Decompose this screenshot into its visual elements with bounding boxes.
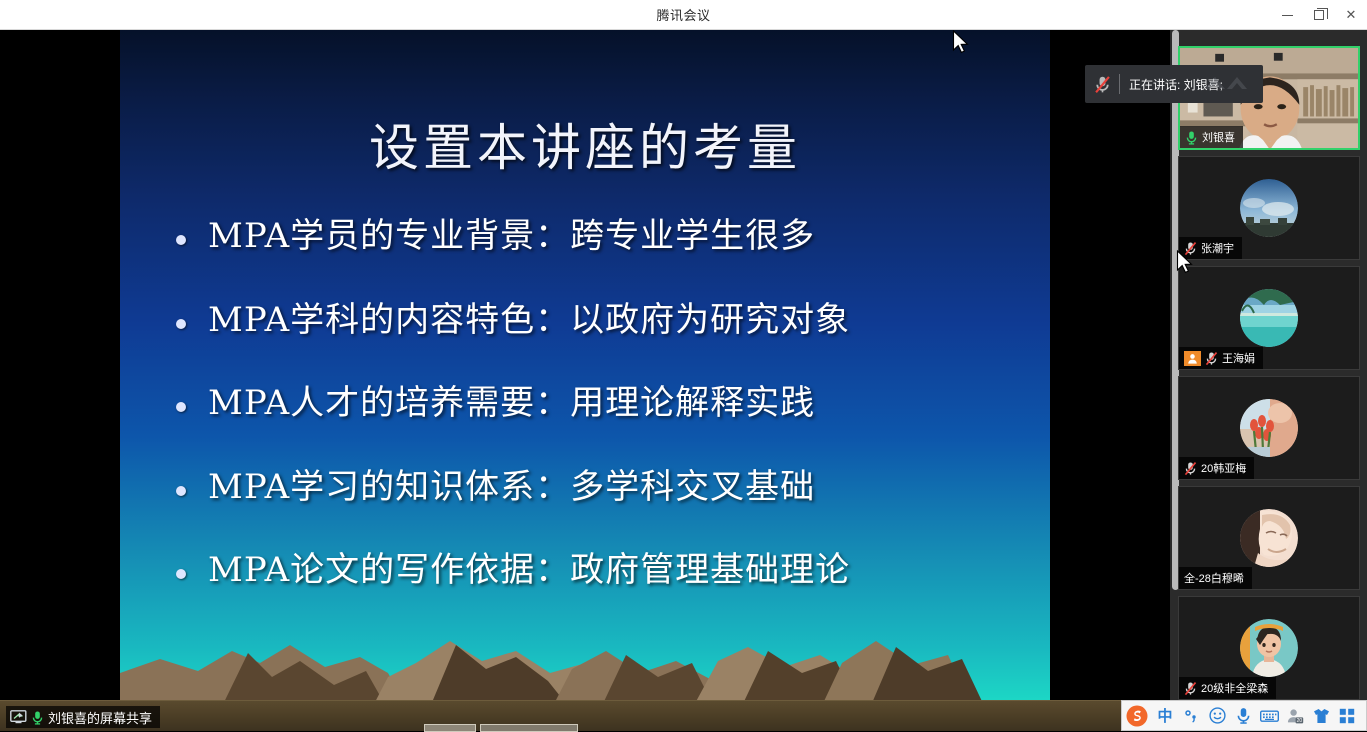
- avatar-image: [1240, 619, 1298, 677]
- slide-bullet-list: MPA学员的专业背景：跨专业学生很多 MPA学科的内容特色：以政府为研究对象 M…: [176, 215, 1030, 633]
- list-item: MPA人才的培养需要：用理论解释实践: [176, 382, 1030, 425]
- participant-name: 张潮宇: [1201, 240, 1234, 256]
- person-icon: [1187, 353, 1198, 364]
- bullet-dot-icon: [176, 319, 186, 329]
- participant-tile-baimuxi[interactable]: 全-28白穆晞: [1178, 486, 1360, 590]
- screen-share-indicator[interactable]: 刘银喜的屏幕共享: [6, 706, 160, 728]
- window-title: 腾讯会议: [656, 5, 710, 24]
- mic-icon: [1236, 707, 1251, 724]
- speaking-notification-toast: 正在讲话: 刘银喜;: [1085, 65, 1263, 103]
- punctuation-icon: [1183, 708, 1199, 724]
- ime-mode-chinese[interactable]: 中: [1152, 701, 1178, 730]
- avatar: [1240, 179, 1298, 237]
- chevrons-decoration-icon: [1203, 73, 1257, 95]
- avatar: [1240, 509, 1298, 567]
- close-button[interactable]: ✕: [1335, 0, 1367, 30]
- toast-mic-slot: [1085, 75, 1119, 94]
- smiley-icon: [1209, 707, 1226, 724]
- list-item: MPA学习的知识体系：多学科交叉基础: [176, 466, 1030, 509]
- participant-name: 20韩亚梅: [1201, 460, 1246, 476]
- participant-name-chip: 王海娟: [1179, 347, 1263, 369]
- avatar-image: [1240, 179, 1298, 237]
- bullet-text: MPA学科的内容特色：以政府为研究对象: [208, 299, 850, 342]
- svg-text:20: 20: [1296, 718, 1302, 724]
- bullet-dot-icon: [176, 486, 186, 496]
- ime-user-panel[interactable]: 20: [1282, 701, 1308, 730]
- shirt-icon: [1313, 708, 1330, 724]
- screen-share-label: 刘银喜的屏幕共享: [48, 708, 152, 727]
- avatar: [1240, 399, 1298, 457]
- bullet-text: MPA论文的写作依据：政府管理基础理论: [208, 549, 850, 592]
- window-titlebar: 腾讯会议 ✕: [0, 0, 1367, 30]
- ime-punctuation[interactable]: [1178, 701, 1204, 730]
- avatar: [1240, 619, 1298, 677]
- participant-tile-zhangchaoyu[interactable]: 张潮宇: [1178, 156, 1360, 260]
- participant-tile-wanghaijuan[interactable]: 王海娟: [1178, 266, 1360, 370]
- bullet-text: MPA人才的培养需要：用理论解释实践: [208, 382, 815, 425]
- avatar-image: [1240, 399, 1298, 457]
- mic-muted-icon: [1205, 351, 1218, 366]
- ime-skin[interactable]: [1308, 701, 1334, 730]
- mic-muted-icon: [1184, 241, 1197, 256]
- mic-muted-icon: [1094, 75, 1111, 94]
- mic-muted-icon: [1184, 461, 1197, 476]
- mic-on-icon: [31, 710, 44, 725]
- participant-panel: 刘银喜: [1170, 30, 1367, 731]
- presentation-slide: 设置本讲座的考量 MPA学员的专业背景：跨专业学生很多 MPA学科的内容特色：以…: [120, 30, 1050, 731]
- ime-toolbox[interactable]: [1334, 701, 1360, 730]
- screen-share-icon: [10, 710, 27, 724]
- participant-name: 全-28白穆晞: [1184, 570, 1244, 586]
- user-icon: 20: [1287, 708, 1304, 724]
- bullet-dot-icon: [176, 402, 186, 412]
- participant-name-chip: 20韩亚梅: [1179, 457, 1254, 479]
- sogou-logo[interactable]: [1122, 701, 1152, 730]
- list-item: MPA论文的写作依据：政府管理基础理论: [176, 549, 1030, 592]
- keyboard-icon: [1260, 709, 1279, 723]
- mic-on-icon: [1185, 130, 1198, 145]
- participant-name-chip: 20级非全梁森: [1179, 677, 1276, 699]
- ime-soft-keyboard[interactable]: [1256, 701, 1282, 730]
- restore-button[interactable]: [1303, 0, 1335, 30]
- list-item: MPA学员的专业背景：跨专业学生很多: [176, 215, 1030, 258]
- avatar: [1240, 289, 1298, 347]
- ime-emoji[interactable]: [1204, 701, 1230, 730]
- bullet-text: MPA学员的专业背景：跨专业学生很多: [208, 215, 815, 258]
- participant-name: 王海娟: [1222, 350, 1255, 366]
- mic-muted-icon: [1184, 681, 1197, 696]
- participant-tile-hanyamei[interactable]: 20韩亚梅: [1178, 376, 1360, 480]
- window-controls: ✕: [1271, 0, 1367, 30]
- list-item: MPA学科的内容特色：以政府为研究对象: [176, 299, 1030, 342]
- participant-name: 刘银喜: [1202, 129, 1235, 145]
- avatar-badge-icon: [1184, 351, 1201, 366]
- slide-title: 设置本讲座的考量: [120, 108, 1050, 180]
- participant-tile-liangsen[interactable]: 20级非全梁森: [1178, 596, 1360, 700]
- participant-name-chip: 全-28白穆晞: [1179, 567, 1252, 589]
- bullet-dot-icon: [176, 569, 186, 579]
- sogou-ime-tray[interactable]: 中: [1121, 700, 1367, 731]
- ime-voice-input[interactable]: [1230, 701, 1256, 730]
- avatar-image: [1240, 289, 1298, 347]
- participant-name: 20级非全梁森: [1201, 680, 1268, 696]
- participant-name-chip: 刘银喜: [1180, 126, 1243, 148]
- grid-icon: [1339, 708, 1355, 724]
- bullet-text: MPA学习的知识体系：多学科交叉基础: [208, 466, 815, 509]
- shared-screen-stage[interactable]: 设置本讲座的考量 MPA学员的专业背景：跨专业学生很多 MPA学科的内容特色：以…: [0, 30, 1170, 731]
- minimize-button[interactable]: [1271, 0, 1303, 30]
- participant-name-chip: 张潮宇: [1179, 237, 1242, 259]
- bullet-dot-icon: [176, 235, 186, 245]
- participant-tile-list: 刘银喜: [1178, 46, 1360, 706]
- avatar-image: [1240, 509, 1298, 567]
- windows-taskbar[interactable]: 刘银喜的屏幕共享 中: [0, 700, 1367, 731]
